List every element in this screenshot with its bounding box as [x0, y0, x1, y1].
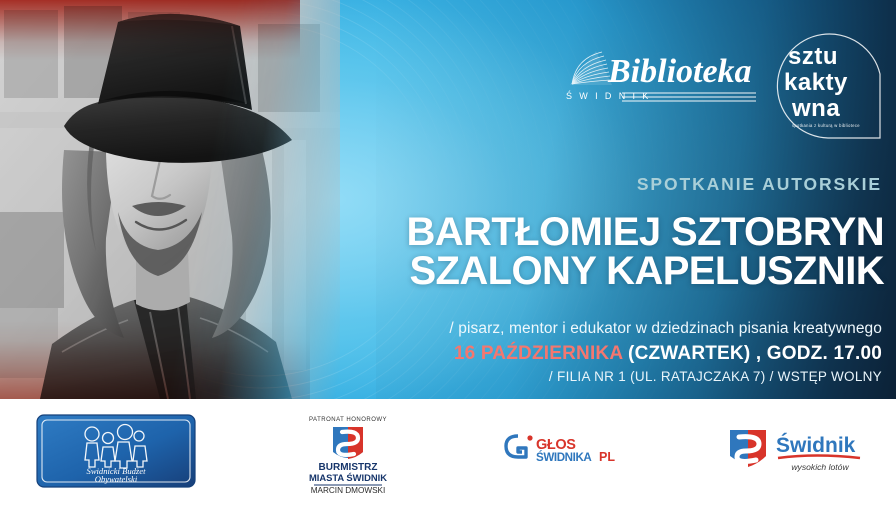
headline-line-2: SZALONY KAPELUSZNIK: [406, 252, 884, 291]
biblioteka-wordmark: Biblioteka: [607, 53, 752, 90]
sztukaktywna-line2: kakty: [784, 69, 848, 96]
event-date: 16 PAŹDZIERNIKA: [454, 343, 623, 364]
event-venue: / FILIA NR 1 (UL. RATAJCZAKA 7) / WSTĘP …: [549, 369, 882, 384]
biblioteka-city-label: Ś W I D N I K: [566, 90, 651, 101]
sponsor-swidnik-city-logo: Świdnik wysokich lotów: [726, 426, 866, 474]
poster-artwork: Biblioteka Ś W I D N I K sztu kakty wna …: [0, 0, 896, 399]
glos-word-2: ŚWIDNIKA: [536, 451, 592, 464]
patronat-line-2: MIASTA ŚWIDNIK: [309, 472, 387, 483]
patronat-top-label: PATRONAT HONOROWY: [309, 417, 387, 423]
sponsor-glos-swidnika-logo: GŁOS ŚWIDNIKA PL: [502, 432, 626, 466]
headline-line-1: BARTŁOMIEJ SZTOBRYN: [406, 210, 884, 254]
sponsor-budzet-obywatelski-logo: Świdnicki Budżet Obywatelski: [36, 414, 196, 488]
budzet-line-2: Obywatelski: [95, 474, 138, 484]
author-description: / pisarz, mentor i edukator w dziedzinac…: [449, 320, 882, 338]
patronat-line-3: MARCIN DMOWSKI: [311, 486, 386, 495]
swidnik-tagline: wysokich lotów: [791, 462, 849, 472]
page-title: BARTŁOMIEJ SZTOBRYN SZALONY KAPELUSZNIK: [406, 213, 884, 291]
sztukaktywna-tagline: spotkania z kulturą w bibliotece: [792, 123, 860, 128]
author-portrait: [0, 0, 340, 399]
sztukaktywna-logo: sztu kakty wna spotkania z kulturą w bib…: [762, 22, 886, 140]
sponsor-patronat-honorowy-logo: PATRONAT HONOROWY BURMISTRZ MIASTA ŚWIDN…: [296, 412, 400, 496]
glos-word-3: PL: [599, 450, 615, 464]
swidnik-wordmark: Świdnik: [776, 433, 856, 457]
sztukaktywna-line3: wna: [791, 95, 840, 122]
event-datetime: 16 PAŹDZIERNIKA (CZWARTEK) , GODZ. 17.00: [454, 343, 882, 365]
event-day-time: (CZWARTEK) , GODZ. 17.00: [623, 343, 882, 364]
sztukaktywna-line1: sztu: [788, 43, 838, 70]
kicker-spotkanie-autorskie: SPOTKANIE AUTORSKIE: [637, 174, 882, 195]
event-poster: Biblioteka Ś W I D N I K sztu kakty wna …: [0, 0, 896, 505]
biblioteka-swidnik-logo: Biblioteka Ś W I D N I K: [562, 44, 758, 106]
